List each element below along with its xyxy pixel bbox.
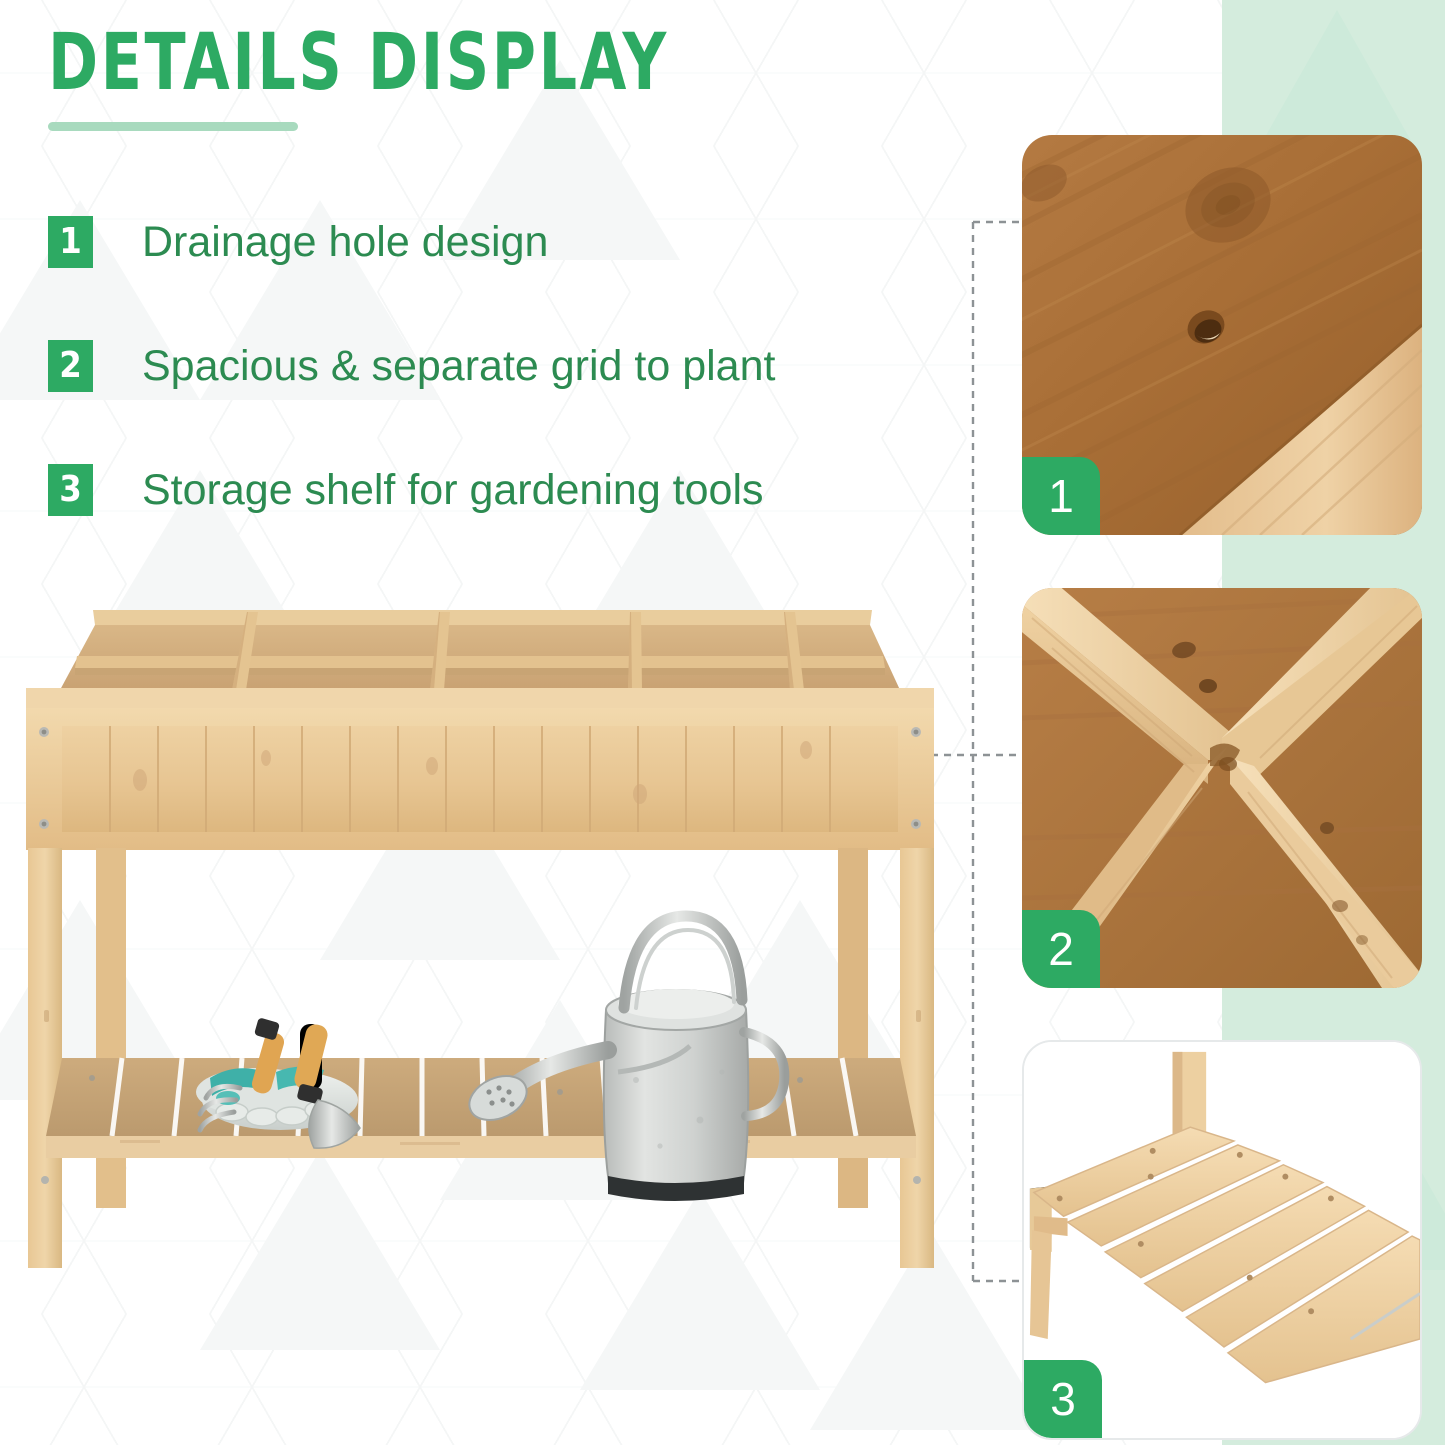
feature-item-1: 1 Drainage hole design — [48, 213, 998, 271]
planter-grid-compartments — [60, 610, 900, 690]
title-underline-rule — [48, 122, 298, 131]
feature-number-badge-2: 2 — [48, 340, 93, 392]
detail-card-badge-3: 3 — [1024, 1360, 1102, 1438]
detail-card-2[interactable]: 2 — [1022, 588, 1422, 988]
detail-card-1[interactable]: 1 — [1022, 135, 1422, 535]
feature-item-2: 2 Spacious & separate grid to plant — [48, 337, 998, 395]
page-title: DETAILS DISPLAY — [48, 22, 891, 104]
product-illustration — [0, 580, 980, 1320]
feature-label-1: Drainage hole design — [142, 216, 548, 268]
header: DETAILS DISPLAY — [48, 22, 1028, 131]
infographic-page: DETAILS DISPLAY 1 Drainage hole design 2… — [0, 0, 1445, 1445]
feature-item-3: 3 Storage shelf for gardening tools — [48, 461, 998, 519]
detail-card-badge-1: 1 — [1022, 457, 1100, 535]
feature-label-2: Spacious & separate grid to plant — [142, 340, 775, 392]
feature-label-3: Storage shelf for gardening tools — [142, 464, 764, 516]
planter-box-body — [26, 688, 934, 850]
feature-list: 1 Drainage hole design 2 Spacious & sepa… — [48, 213, 998, 585]
feature-number-badge-3: 3 — [48, 464, 93, 516]
feature-number-badge-1: 1 — [48, 216, 93, 268]
detail-card-3[interactable]: 3 — [1022, 1040, 1422, 1440]
detail-card-badge-2: 2 — [1022, 910, 1100, 988]
